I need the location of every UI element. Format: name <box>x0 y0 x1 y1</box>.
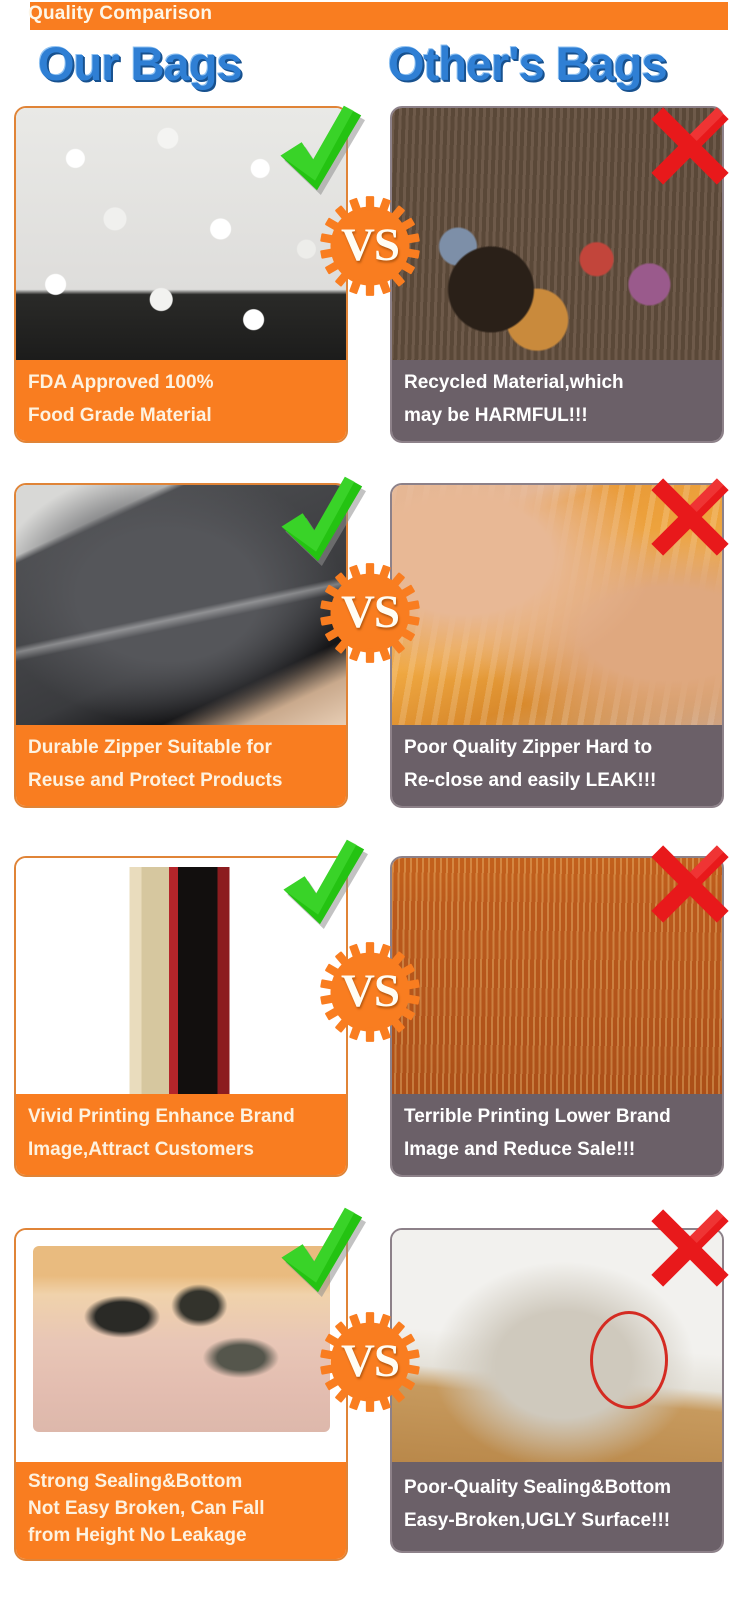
bad-card-3: Terrible Printing Lower Brand Image and … <box>390 856 724 1177</box>
vs-badge-1: VS <box>318 194 422 298</box>
strong-sealed-bottom-bag-photo <box>16 1230 346 1462</box>
good-caption-2: Durable Zipper Suitable for Reuse and Pr… <box>16 725 346 806</box>
caption-line: Strong Sealing&Bottom <box>28 1469 334 1496</box>
quality-comparison-label: Quality Comparison <box>28 3 212 25</box>
vs-badge-2: VS <box>318 561 422 665</box>
caption-line: Recycled Material,which <box>404 367 710 400</box>
plastic-pellets-photo <box>16 108 346 360</box>
good-caption-1: FDA Approved 100% Food Grade Material <box>16 360 346 441</box>
caption-line: Vivid Printing Enhance Brand <box>28 1101 334 1134</box>
caption-line: Easy-Broken,UGLY Surface!!! <box>404 1505 710 1538</box>
caption-line: Durable Zipper Suitable for <box>28 732 334 765</box>
vs-label: VS <box>318 1310 422 1414</box>
vs-badge-3: VS <box>318 940 422 1044</box>
recycled-trash-pile-photo <box>392 108 722 360</box>
our-bags-title: Our Bags <box>38 36 242 91</box>
vs-label: VS <box>318 561 422 665</box>
caption-line: Reuse and Protect Products <box>28 765 334 798</box>
bad-card-4: Poor-Quality Sealing&Bottom Easy-Broken,… <box>390 1228 724 1553</box>
comparison-row-1: FDA Approved 100% Food Grade Material Re… <box>0 106 740 436</box>
bad-caption-1: Recycled Material,which may be HARMFUL!!… <box>392 360 722 441</box>
good-card-2: Durable Zipper Suitable for Reuse and Pr… <box>14 483 348 808</box>
durable-zipper-photo <box>16 485 346 725</box>
good-card-1: FDA Approved 100% Food Grade Material <box>14 106 348 443</box>
broken-bottom-bag-photo <box>392 1230 722 1462</box>
caption-line: Poor-Quality Sealing&Bottom <box>404 1472 710 1505</box>
caption-line: may be HARMFUL!!! <box>404 400 710 433</box>
caption-line: Re-close and easily LEAK!!! <box>404 765 710 798</box>
vivid-printed-pouch-photo <box>16 858 346 1094</box>
caption-line: Image,Attract Customers <box>28 1134 334 1167</box>
good-caption-3: Vivid Printing Enhance Brand Image,Attra… <box>16 1094 346 1175</box>
bad-caption-4: Poor-Quality Sealing&Bottom Easy-Broken,… <box>392 1462 722 1551</box>
caption-line: FDA Approved 100% <box>28 367 334 400</box>
comparison-row-4: Strong Sealing&Bottom Not Easy Broken, C… <box>0 1228 740 1588</box>
caption-line: Not Easy Broken, Can Fall <box>28 1496 334 1523</box>
faded-printed-label-photo <box>392 858 722 1094</box>
defect-highlight-circle <box>590 1311 668 1409</box>
bad-card-2: Poor Quality Zipper Hard to Re-close and… <box>390 483 724 808</box>
bad-caption-2: Poor Quality Zipper Hard to Re-close and… <box>392 725 722 806</box>
others-bags-title: Other's Bags <box>388 36 667 91</box>
caption-line: Poor Quality Zipper Hard to <box>404 732 710 765</box>
caption-line: Food Grade Material <box>28 400 334 433</box>
poor-zipper-orange-bag-photo <box>392 485 722 725</box>
good-card-3: Vivid Printing Enhance Brand Image,Attra… <box>14 856 348 1177</box>
comparison-row-3: Vivid Printing Enhance Brand Image,Attra… <box>0 856 740 1176</box>
good-caption-4: Strong Sealing&Bottom Not Easy Broken, C… <box>16 1462 346 1559</box>
bad-caption-3: Terrible Printing Lower Brand Image and … <box>392 1094 722 1175</box>
vs-badge-4: VS <box>318 1310 422 1414</box>
caption-line: Image and Reduce Sale!!! <box>404 1134 710 1167</box>
comparison-row-2: Durable Zipper Suitable for Reuse and Pr… <box>0 483 740 813</box>
titles-row: Our Bags Other's Bags <box>0 36 740 100</box>
bad-card-1: Recycled Material,which may be HARMFUL!!… <box>390 106 724 443</box>
caption-line: from Height No Leakage <box>28 1523 334 1550</box>
vs-label: VS <box>318 194 422 298</box>
caption-line: Terrible Printing Lower Brand <box>404 1101 710 1134</box>
good-card-4: Strong Sealing&Bottom Not Easy Broken, C… <box>14 1228 348 1561</box>
vs-label: VS <box>318 940 422 1044</box>
